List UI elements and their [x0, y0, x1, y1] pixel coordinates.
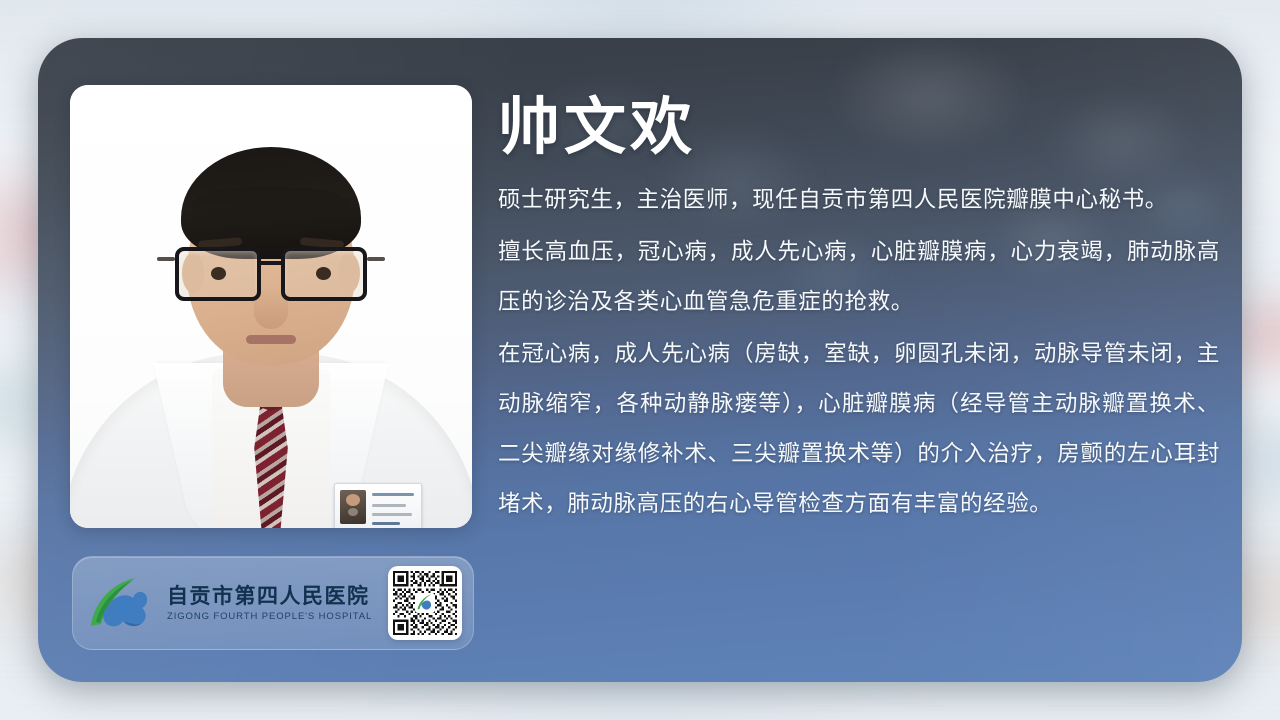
id-badge-text-line — [372, 504, 406, 507]
id-badge-text-line — [372, 493, 414, 496]
poster-canvas: 帅文欢 硕士研究生，主治医师，现任自贡市第四人民医院瓣膜中心秘书。 擅长高血压，… — [0, 0, 1280, 720]
bio-paragraph-credentials: 硕士研究生，主治医师，现任自贡市第四人民医院瓣膜中心秘书。 — [498, 175, 1220, 225]
id-badge-photo — [340, 490, 366, 524]
bio-paragraph-specialties: 擅长高血压，冠心病，成人先心病，心脏瓣膜病，心力衰竭，肺动脉高压的诊治及各类心血… — [498, 227, 1220, 327]
qr-center-logo-mark — [415, 593, 435, 613]
hospital-logo-block: 自贡市第四人民医院 ZIGONG FOURTH PEOPLE'S HOSPITA… — [87, 569, 355, 637]
doctor-name: 帅文欢 — [498, 94, 1220, 159]
id-badge-text-line — [372, 522, 400, 525]
hospital-name-chinese: 自贡市第四人民医院 — [167, 584, 372, 608]
qr-center-logo-icon — [415, 593, 435, 613]
qr-code[interactable] — [388, 566, 462, 640]
bio-paragraph-experience: 在冠心病，成人先心病（房缺，室缺，卵圆孔未闭，动脉导管未闭，主动脉缩窄，各种动静… — [498, 329, 1220, 529]
glasses-temple-right — [367, 257, 385, 261]
eyeglasses — [173, 247, 369, 297]
portrait-figure — [70, 85, 472, 528]
hospital-name-english: ZIGONG FOURTH PEOPLE'S HOSPITAL — [167, 611, 372, 622]
glasses-bridge — [257, 261, 285, 265]
hospital-logo-text: 自贡市第四人民医院 ZIGONG FOURTH PEOPLE'S HOSPITA… — [167, 584, 372, 621]
mouth — [246, 335, 296, 344]
eye-left — [211, 267, 226, 280]
doctor-portrait-photo — [70, 85, 472, 528]
eye-right — [316, 267, 331, 280]
lens-left — [175, 247, 261, 301]
doctor-info-column: 帅文欢 硕士研究生，主治医师，现任自贡市第四人民医院瓣膜中心秘书。 擅长高血压，… — [498, 94, 1220, 531]
id-badge-text-line — [372, 513, 412, 516]
glasses-temple-left — [157, 257, 175, 261]
lens-right — [281, 247, 367, 301]
hospital-footer-bar: 自贡市第四人民医院 ZIGONG FOURTH PEOPLE'S HOSPITA… — [72, 556, 474, 650]
hospital-logo-icon — [87, 572, 159, 634]
id-badge — [334, 483, 422, 528]
